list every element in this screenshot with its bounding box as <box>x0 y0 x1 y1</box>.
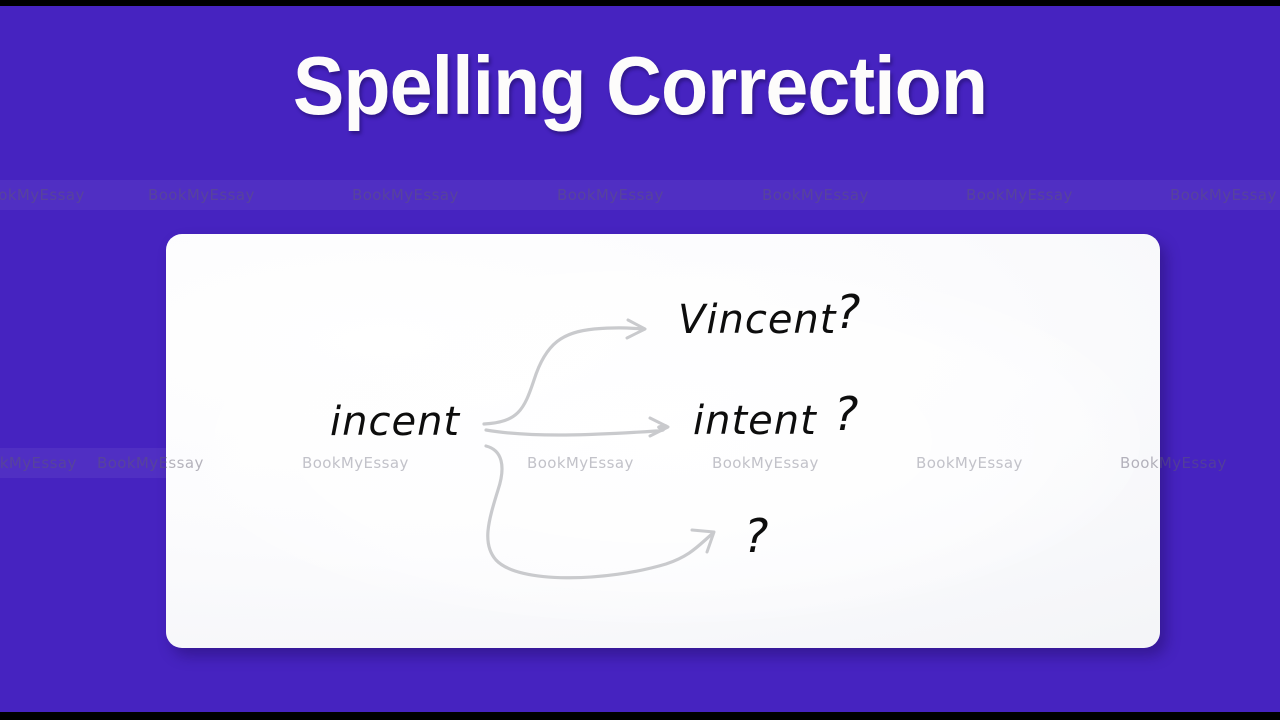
watermark-band-top: BookMyEssay BookMyEssay BookMyEssay Book… <box>0 180 1280 210</box>
candidate-mark-intent: ? <box>834 387 858 441</box>
slide-background: Spelling Correction incent Vincent ? int… <box>0 6 1280 712</box>
whiteboard-card: incent Vincent ? intent ? ? <box>166 234 1160 648</box>
candidate-word-vincent: Vincent <box>678 297 837 343</box>
watermark-text: BookMyEssay <box>557 186 664 204</box>
arrow-to-unknown <box>486 446 712 578</box>
candidate-mark-unknown: ? <box>744 509 768 563</box>
candidate-word-intent: intent <box>693 398 817 444</box>
watermark-text: BookMyEssay <box>1170 186 1277 204</box>
watermark-text: BookMyEssay <box>148 186 255 204</box>
letterbox-bar-top <box>0 0 1280 6</box>
arrow-to-intent <box>486 426 666 435</box>
letterbox-bar-bottom <box>0 712 1280 720</box>
arrow-to-vincent <box>484 328 644 424</box>
slide-canvas: Spelling Correction incent Vincent ? int… <box>0 0 1280 720</box>
watermark-text: BookMyEssay <box>762 186 869 204</box>
watermark-text: BookMyEssay <box>0 454 77 472</box>
watermark-text: BookMyEssay <box>966 186 1073 204</box>
whiteboard-diagram: incent Vincent ? intent ? ? <box>166 234 1160 648</box>
candidate-mark-vincent: ? <box>836 285 860 339</box>
watermark-row: BookMyEssay BookMyEssay BookMyEssay Book… <box>0 180 1280 210</box>
page-title: Spelling Correction <box>45 44 1235 127</box>
watermark-text: BookMyEssay <box>0 186 85 204</box>
watermark-band-tint <box>0 180 1280 210</box>
watermark-band-tint <box>0 448 166 478</box>
source-word: incent <box>330 399 460 445</box>
watermark-text: BookMyEssay <box>352 186 459 204</box>
